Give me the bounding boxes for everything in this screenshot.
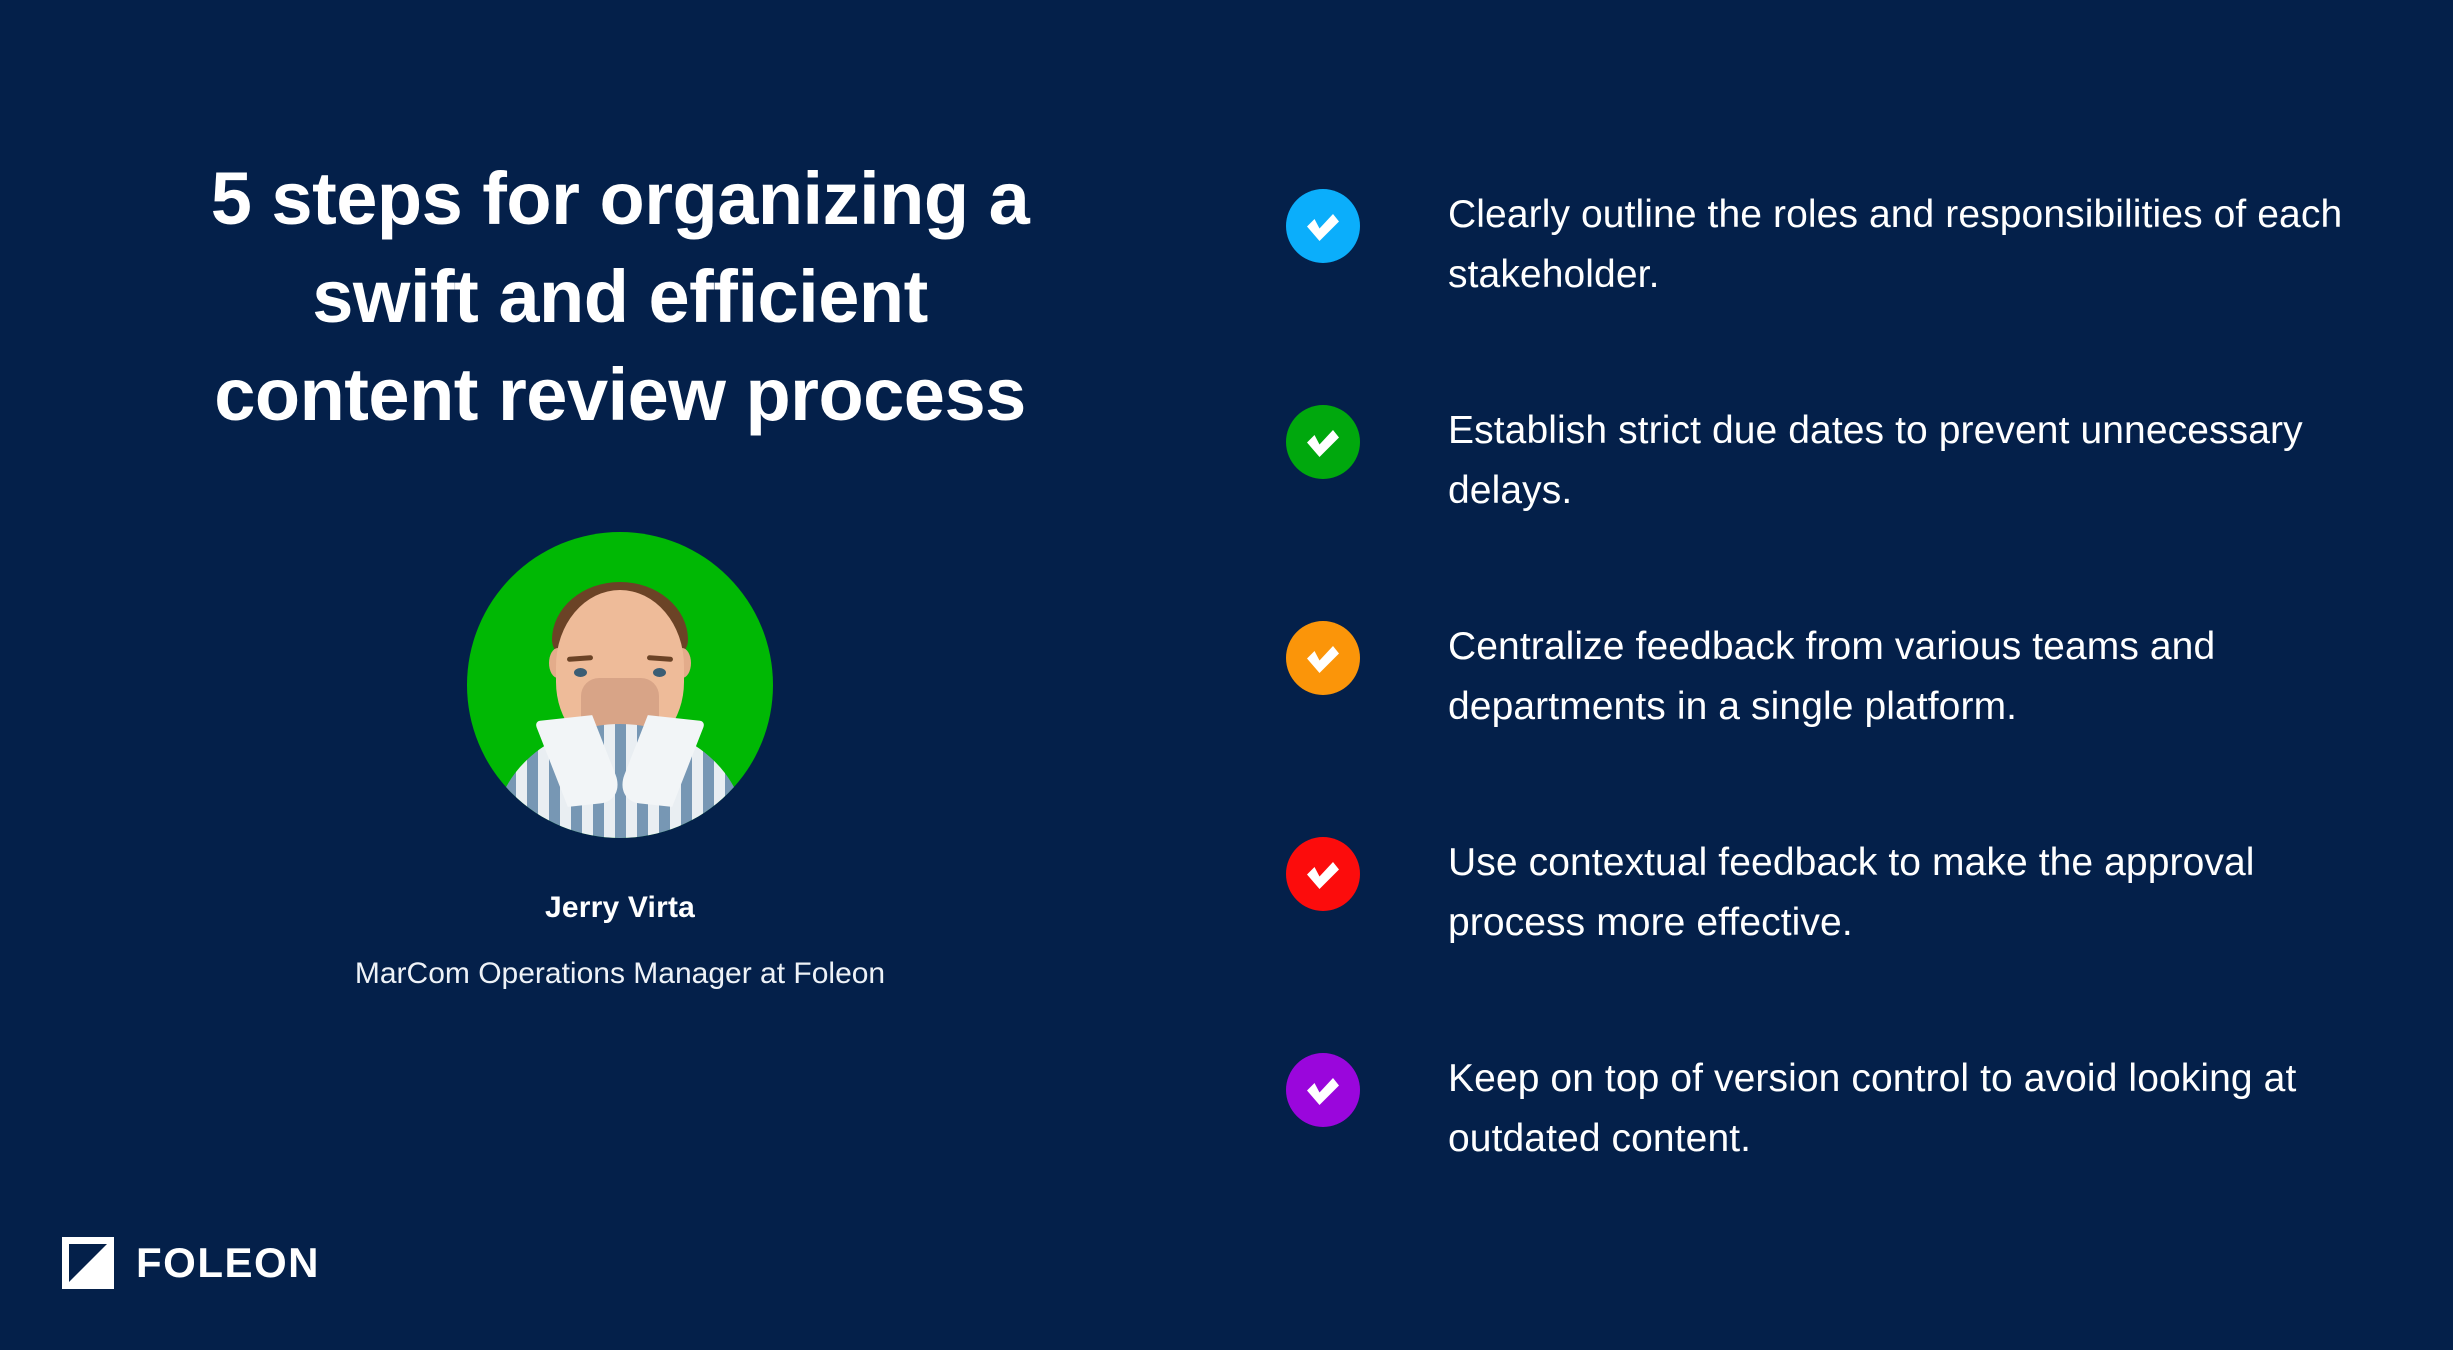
portrait-eye-left [574,668,587,677]
page-title: 5 steps for organizing a swift and effic… [120,150,1120,444]
list-item-text: Establish strict due dates to prevent un… [1448,401,2346,521]
list-item: Use contextual feedback to make the appr… [1286,833,2346,1049]
left-column: 5 steps for organizing a swift and effic… [100,150,1140,992]
list-item: Centralize feedback from various teams a… [1286,617,2346,833]
avatar [467,532,773,838]
check-circle-icon [1286,189,1360,263]
foleon-logo-mark [62,1237,114,1289]
person-role: MarCom Operations Manager at Foleon [355,956,885,992]
check-circle-icon [1286,1053,1360,1127]
foleon-logo: FOLEON [62,1237,320,1289]
check-circle-icon [1286,837,1360,911]
portrait-eye-right [653,668,666,677]
check-circle-icon [1286,405,1360,479]
person-name: Jerry Virta [545,890,695,926]
slide-canvas: 5 steps for organizing a swift and effic… [0,0,2453,1350]
portrait-shirt [494,724,746,838]
foleon-wordmark: FOLEON [136,1242,320,1284]
list-item: Establish strict due dates to prevent un… [1286,401,2346,617]
check-circle-icon [1286,621,1360,695]
list-item: Clearly outline the roles and responsibi… [1286,185,2346,401]
list-item-text: Use contextual feedback to make the appr… [1448,833,2346,953]
list-item: Keep on top of version control to avoid … [1286,1049,2346,1265]
avatar-image [467,532,773,838]
list-item-text: Keep on top of version control to avoid … [1448,1049,2346,1169]
checklist: Clearly outline the roles and responsibi… [1286,185,2346,1265]
list-item-text: Clearly outline the roles and responsibi… [1448,185,2346,305]
list-item-text: Centralize feedback from various teams a… [1448,617,2346,737]
